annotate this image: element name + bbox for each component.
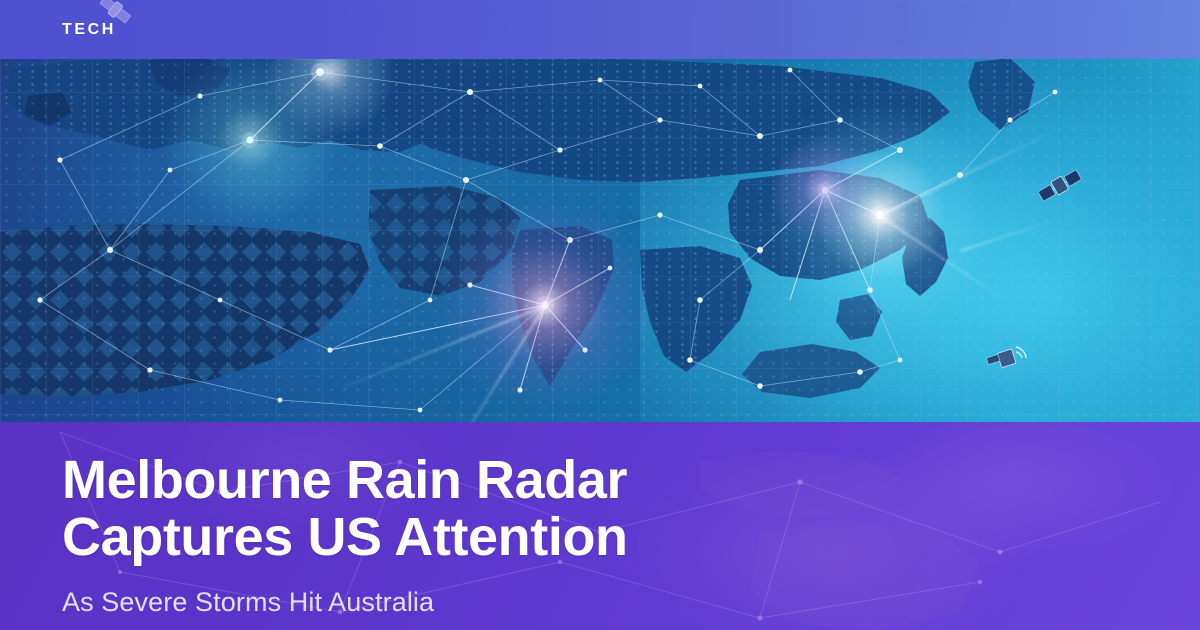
network-nodes <box>37 63 1057 412</box>
headline-line-1: Melbourne Rain Radar <box>62 452 1062 509</box>
satellite-icon-pacific <box>1035 165 1085 212</box>
network-links <box>40 70 1055 410</box>
headline-line-2: Captures US Attention <box>62 509 1062 566</box>
headline-block: Melbourne Rain Radar Captures US Attenti… <box>62 452 1062 619</box>
satellite-icon-indian-ocean <box>985 338 1031 383</box>
satellite-icon <box>95 0 135 37</box>
social-share-card: TECH <box>0 0 1200 630</box>
subheadline: As Severe Storms Hit Australia <box>62 586 1062 618</box>
top-bar: TECH <box>0 0 1200 59</box>
